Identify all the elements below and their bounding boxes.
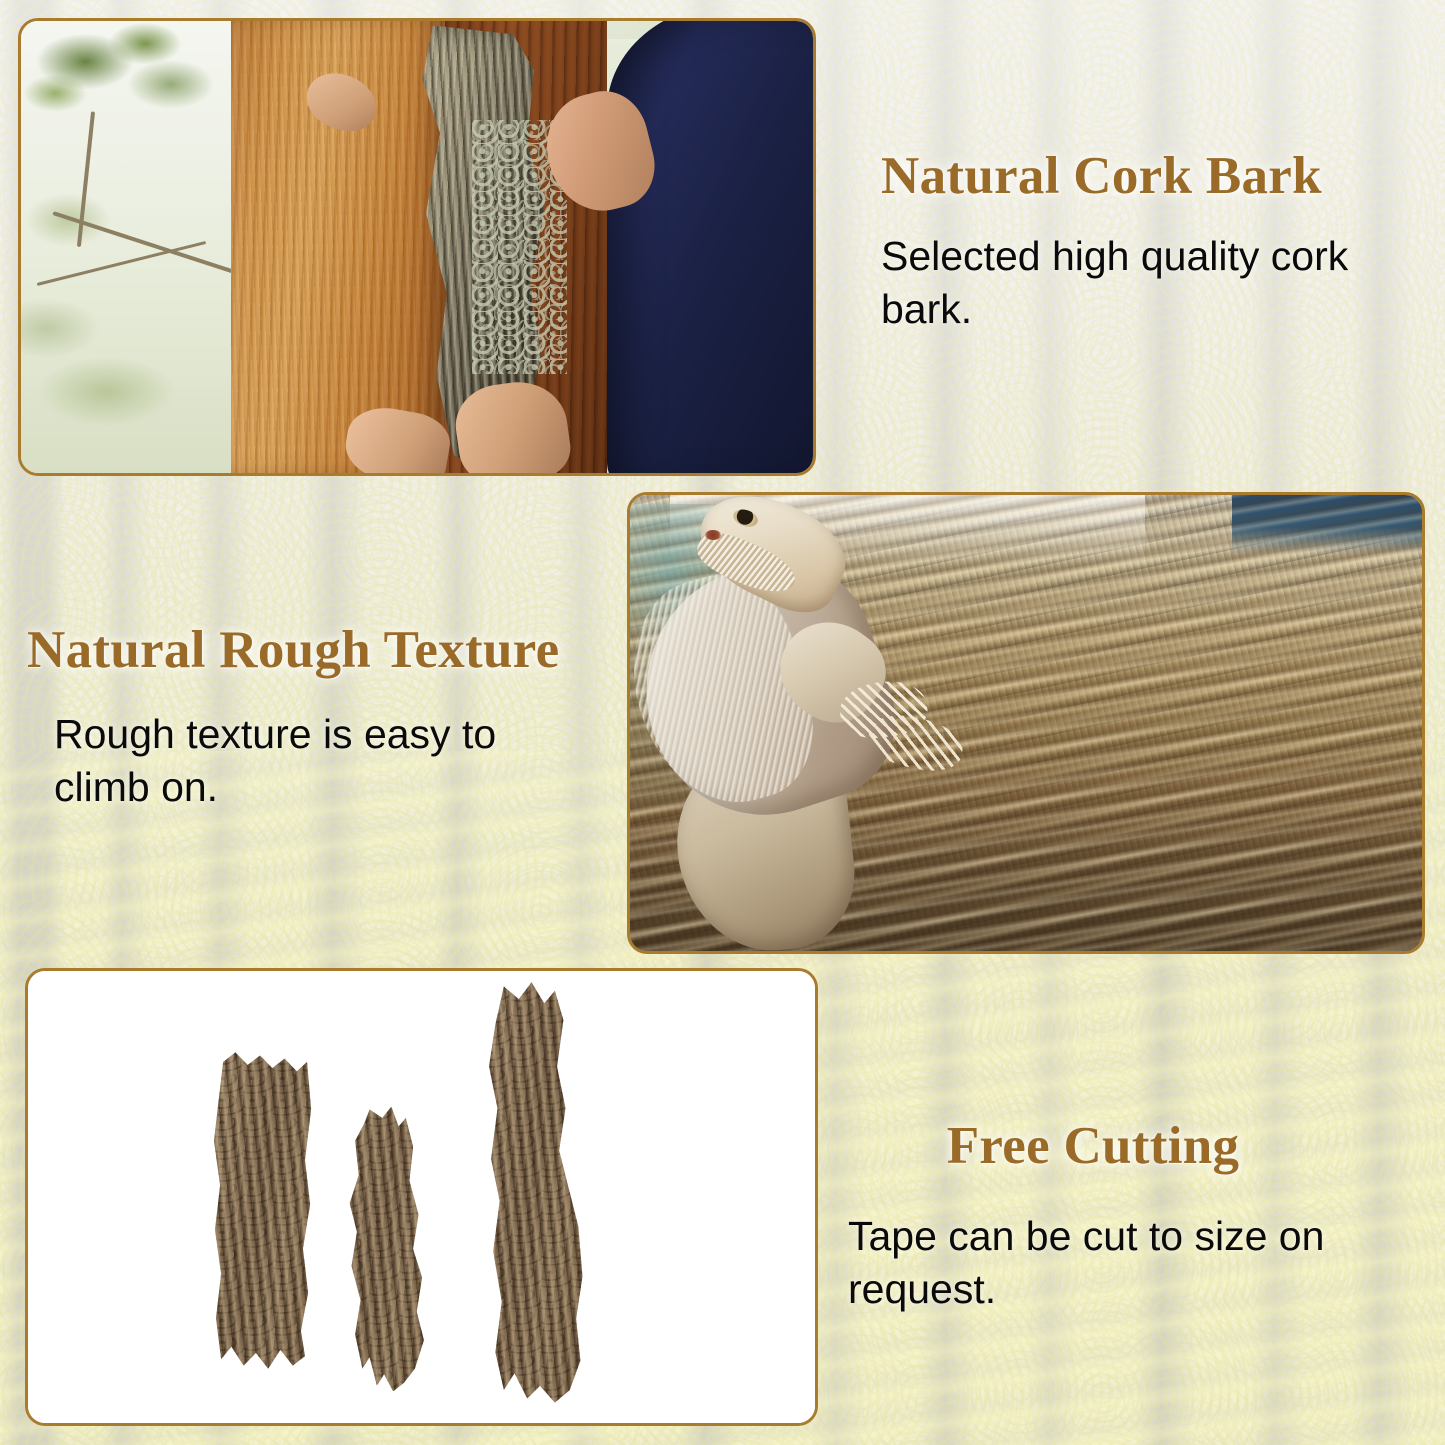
green-foliage-area — [21, 21, 235, 473]
feature-text-natural-rough-texture: Natural Rough Texture Rough texture is e… — [27, 622, 602, 815]
feature-body: Selected high quality cork bark. — [881, 230, 1386, 337]
feature-heading: Free Cutting — [848, 1118, 1408, 1174]
feature-image-card-free-cutting — [25, 968, 818, 1426]
bearded-dragon-lizard — [630, 495, 1422, 951]
feature-body: Rough texture is easy to climb on. — [54, 708, 602, 815]
feature-text-free-cutting: Free Cutting Tape can be cut to size on … — [848, 1118, 1408, 1317]
product-infographic: Natural Cork Bark Selected high quality … — [0, 0, 1445, 1445]
feature-body: Tape can be cut to size on request. — [848, 1210, 1408, 1317]
feature-heading: Natural Cork Bark — [881, 148, 1386, 204]
feature-text-natural-cork-bark: Natural Cork Bark Selected high quality … — [881, 148, 1386, 337]
cork-harvesting-photo — [21, 21, 813, 473]
worker-navy-shirt — [607, 21, 813, 473]
feature-image-card-natural-cork-bark — [18, 18, 816, 476]
lizard-nostril — [705, 530, 721, 540]
cork-bark-piece-left — [213, 1052, 315, 1368]
cork-bark-pieces-photo — [28, 971, 815, 1423]
feature-image-card-natural-rough-texture — [627, 492, 1425, 954]
feature-heading: Natural Rough Texture — [27, 622, 602, 678]
bearded-dragon-on-cork-photo — [630, 495, 1422, 951]
white-product-backdrop — [28, 971, 815, 1423]
